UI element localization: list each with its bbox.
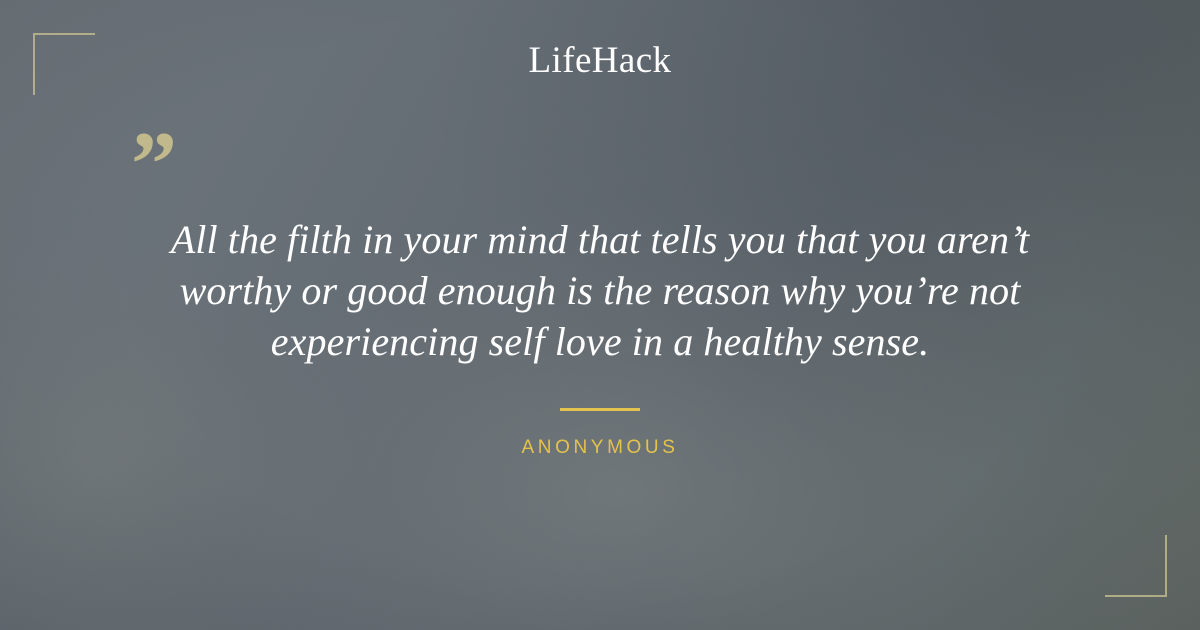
- quote-line: All the filth in your mind that tells yo…: [100, 214, 1100, 265]
- attribution-block: ANONYMOUS: [0, 400, 1200, 459]
- quote-author: ANONYMOUS: [0, 437, 1200, 459]
- quote-line: worthy or good enough is the reason why …: [100, 265, 1100, 316]
- quote-card: LifeHack ” All the filth in your mind th…: [0, 0, 1200, 630]
- brand-logo: LifeHack: [0, 38, 1200, 84]
- quotation-mark-icon: ”: [131, 118, 177, 210]
- attribution-divider: [560, 408, 640, 411]
- quote-text-block: All the filth in your mind that tells yo…: [100, 214, 1100, 367]
- corner-bracket-bottom-right-icon: [1105, 535, 1167, 597]
- quote-line: experiencing self love in a healthy sens…: [100, 316, 1100, 367]
